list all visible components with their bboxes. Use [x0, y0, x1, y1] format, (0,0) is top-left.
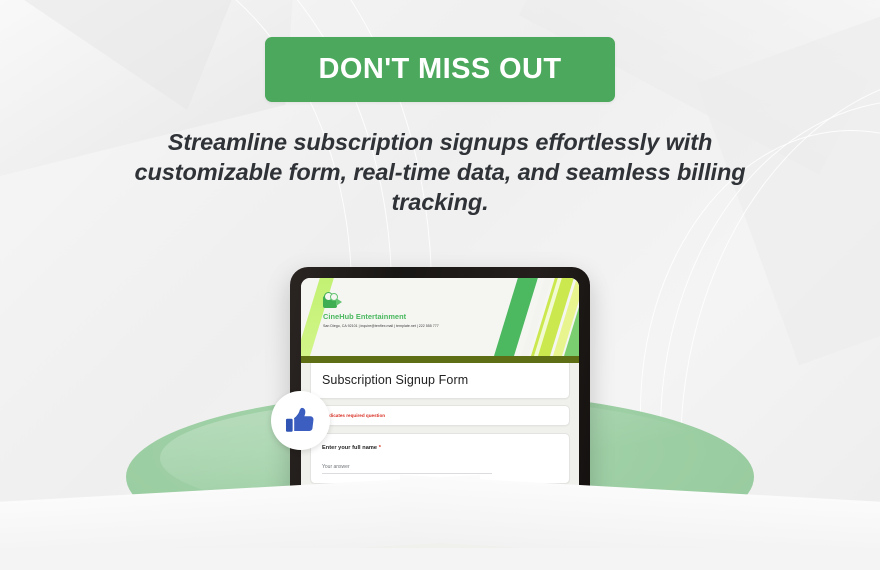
form-question-fullname: Enter your full name * Your answer: [310, 433, 570, 484]
required-star: *: [379, 445, 381, 451]
company-contact-line: San Diego, CA 92101 | inquire@tenflex.ma…: [323, 323, 499, 329]
company-name: CineHub Entertainment: [323, 312, 499, 321]
form-question-phone: Enter your phone number Your answer: [310, 549, 570, 570]
thumbs-up-icon: [284, 404, 318, 438]
question-label-text: Enter your phone number: [322, 561, 392, 567]
fullname-input[interactable]: Your answer: [322, 464, 492, 474]
headline-banner: DON'T MISS OUT: [265, 37, 615, 102]
question-label: Enter your full name *: [322, 445, 558, 451]
required-question-note: * Indicates required question: [322, 413, 558, 418]
tablet-screen: CineHub Entertainment San Diego, CA 9210…: [301, 278, 579, 570]
tablet-device: CineHub Entertainment San Diego, CA 9210…: [290, 267, 590, 570]
headline-text: DON'T MISS OUT: [319, 53, 562, 86]
form-question-email: Enter your email address * Your answer: [310, 491, 570, 542]
thumbs-up-badge: [271, 391, 330, 450]
form-body: Subscription Signup Form * Indicates req…: [301, 363, 579, 570]
letterhead-accent-bar: [301, 356, 579, 363]
poster-canvas: DON'T MISS OUT Streamline subscription s…: [0, 0, 880, 570]
form-letterhead: CineHub Entertainment San Diego, CA 9210…: [301, 278, 579, 356]
question-label: Enter your phone number: [322, 561, 558, 567]
film-camera-icon: [323, 292, 342, 309]
question-label-text: Enter your full name: [322, 445, 377, 451]
required-note-card: * Indicates required question: [310, 405, 570, 426]
letterhead-content: CineHub Entertainment San Diego, CA 9210…: [323, 292, 499, 329]
form-title-card: Subscription Signup Form: [310, 363, 570, 399]
form-title: Subscription Signup Form: [322, 373, 558, 387]
email-input[interactable]: Your answer: [322, 522, 492, 532]
subtitle-text: Streamline subscription signups effortle…: [128, 127, 752, 217]
required-star: *: [392, 503, 394, 509]
background-polygon-2: [0, 0, 247, 110]
question-label-text: Enter your email address: [322, 503, 390, 509]
question-label: Enter your email address *: [322, 503, 558, 509]
